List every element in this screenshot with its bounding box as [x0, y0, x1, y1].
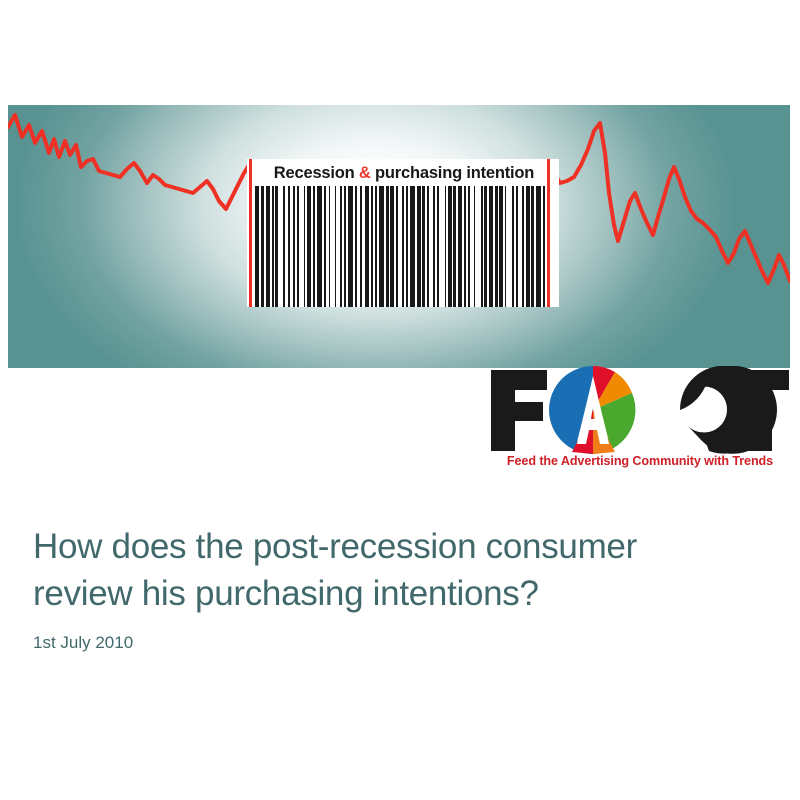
barcode-bar	[386, 186, 389, 307]
barcode-bar	[516, 186, 518, 307]
barcode-bar	[272, 186, 274, 307]
barcode-bar	[468, 186, 470, 307]
barcode-bar	[255, 186, 259, 307]
barcode-bar	[437, 186, 439, 307]
barcode-bar	[275, 186, 278, 307]
page-date: 1st July 2010	[33, 633, 753, 653]
barcode-graphic: Recession & purchasing intention	[247, 159, 559, 307]
barcode-bar	[495, 186, 498, 307]
barcode-bar	[512, 186, 514, 307]
barcode-bar	[335, 186, 337, 307]
barcode-bar	[433, 186, 435, 307]
fact-logo-tagline: Feed the Advertising Community with Tren…	[491, 454, 789, 468]
barcode-bar	[304, 186, 306, 307]
barcode-bar	[324, 186, 326, 307]
barcode-bar	[355, 186, 357, 307]
barcode-bar	[329, 186, 331, 307]
barcode-bar	[390, 186, 394, 307]
barcode-bar	[445, 186, 447, 307]
fact-logo: Feed the Advertising Community with Tren…	[489, 366, 789, 478]
barcode-label: Recession & purchasing intention	[261, 161, 547, 186]
title-block: How does the post-recession consumer rev…	[33, 523, 753, 653]
barcode-label-ampersand: &	[359, 164, 371, 182]
recession-banner-image: Recession & purchasing intention	[8, 105, 790, 368]
barcode-bar	[317, 186, 322, 307]
barcode-bar	[505, 186, 507, 307]
barcode-bar	[371, 186, 373, 307]
fact-logo-mark	[489, 366, 789, 454]
barcode-bar	[417, 186, 421, 307]
barcode-bar	[360, 186, 362, 307]
barcode-bar	[499, 186, 503, 307]
banner-line-left	[8, 115, 249, 209]
barcode-bar	[344, 186, 347, 307]
barcode-bar	[448, 186, 452, 307]
barcode-bar	[536, 186, 541, 307]
barcode-bar	[365, 186, 369, 307]
barcode-bar	[396, 186, 398, 307]
page-title: How does the post-recession consumer rev…	[33, 523, 753, 617]
barcode-bar	[288, 186, 290, 307]
barcode-bar	[422, 186, 425, 307]
banner-line-right	[553, 123, 790, 283]
fact-letter-a-icon	[549, 366, 635, 454]
barcode-bar	[379, 186, 384, 307]
barcode-bar	[406, 186, 408, 307]
barcode-bar	[297, 186, 300, 307]
barcode-bar	[474, 186, 476, 307]
barcode-bar	[410, 186, 415, 307]
barcode-bar	[481, 186, 483, 307]
barcode-bar	[266, 186, 270, 307]
barcode-bar	[261, 186, 264, 307]
barcode-bar	[402, 186, 404, 307]
barcode-bar	[453, 186, 456, 307]
barcode-label-suffix: purchasing intention	[371, 164, 535, 182]
barcode-bar	[484, 186, 487, 307]
barcode-bar	[375, 186, 378, 307]
barcode-bar	[489, 186, 493, 307]
barcode-label-prefix: Recession	[274, 164, 359, 182]
barcode-bar	[307, 186, 311, 307]
barcode-bar	[458, 186, 462, 307]
barcode-bars	[247, 186, 559, 307]
barcode-bar	[531, 186, 534, 307]
barcode-bar	[427, 186, 429, 307]
barcode-bar	[313, 186, 316, 307]
fact-letter-f-icon	[491, 370, 547, 451]
barcode-bar	[543, 186, 545, 307]
barcode-bar	[283, 186, 285, 307]
barcode-bar	[348, 186, 353, 307]
barcode-bar	[526, 186, 530, 307]
barcode-bar	[340, 186, 342, 307]
barcode-bar	[522, 186, 524, 307]
barcode-bar	[464, 186, 466, 307]
barcode-bar	[293, 186, 295, 307]
